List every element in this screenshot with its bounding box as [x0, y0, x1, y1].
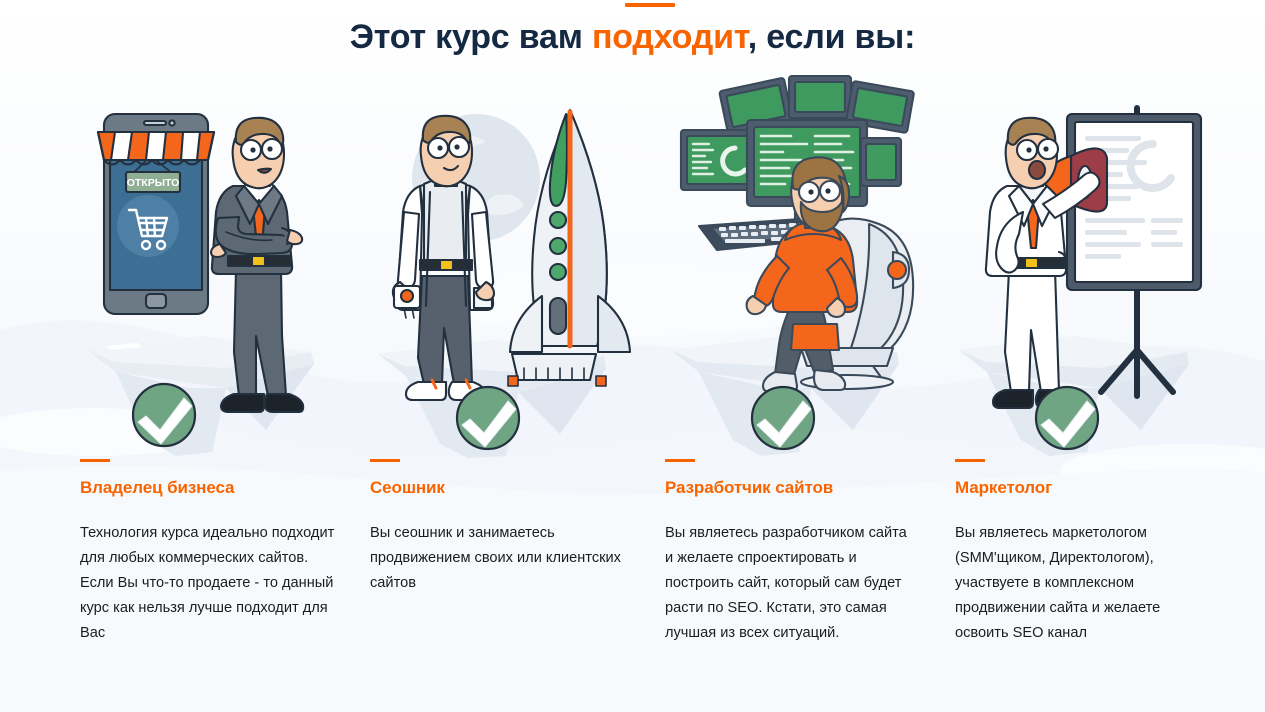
column-body-seo-specialist: Вы сеошник и занимаетесь продвижением св… [370, 521, 632, 596]
title-dash-3 [665, 459, 695, 462]
check-badge-3 [752, 387, 814, 449]
column-title-seo-specialist: Сеошник [370, 478, 445, 498]
check-badge-4 [1036, 387, 1098, 449]
storefront-sign-text: ОТКРЫТО [127, 177, 180, 189]
check-badge-1 [133, 384, 195, 446]
illustration-businessman-storefront-phone: ОТКРЫТО [76, 100, 346, 460]
column-body-web-developer: Вы являетесь разработчиком сайта и желае… [665, 521, 915, 646]
illustration-marketer-megaphone-board [951, 100, 1221, 460]
column-title-marketer: Маркетолог [955, 478, 1052, 498]
title-dash-1 [80, 459, 110, 462]
column-body-marketer: Вы являетесь маркетологом (SMM'щиком, Ди… [955, 521, 1200, 646]
column-title-business-owner: Владелец бизнеса [80, 478, 234, 498]
columns-container: ОТКРЫТО [0, 0, 1265, 712]
illustration-scientist-rocket [366, 100, 636, 460]
column-body-business-owner: Технология курса идеально подходит для л… [80, 521, 342, 646]
title-dash-4 [955, 459, 985, 462]
check-badge-2 [457, 387, 519, 449]
page-root: Этот курс вам подходит, если вы: [0, 0, 1265, 712]
illustration-developer-multi-monitor-pod [661, 100, 931, 460]
column-title-web-developer: Разработчик сайтов [665, 478, 833, 498]
title-dash-2 [370, 459, 400, 462]
